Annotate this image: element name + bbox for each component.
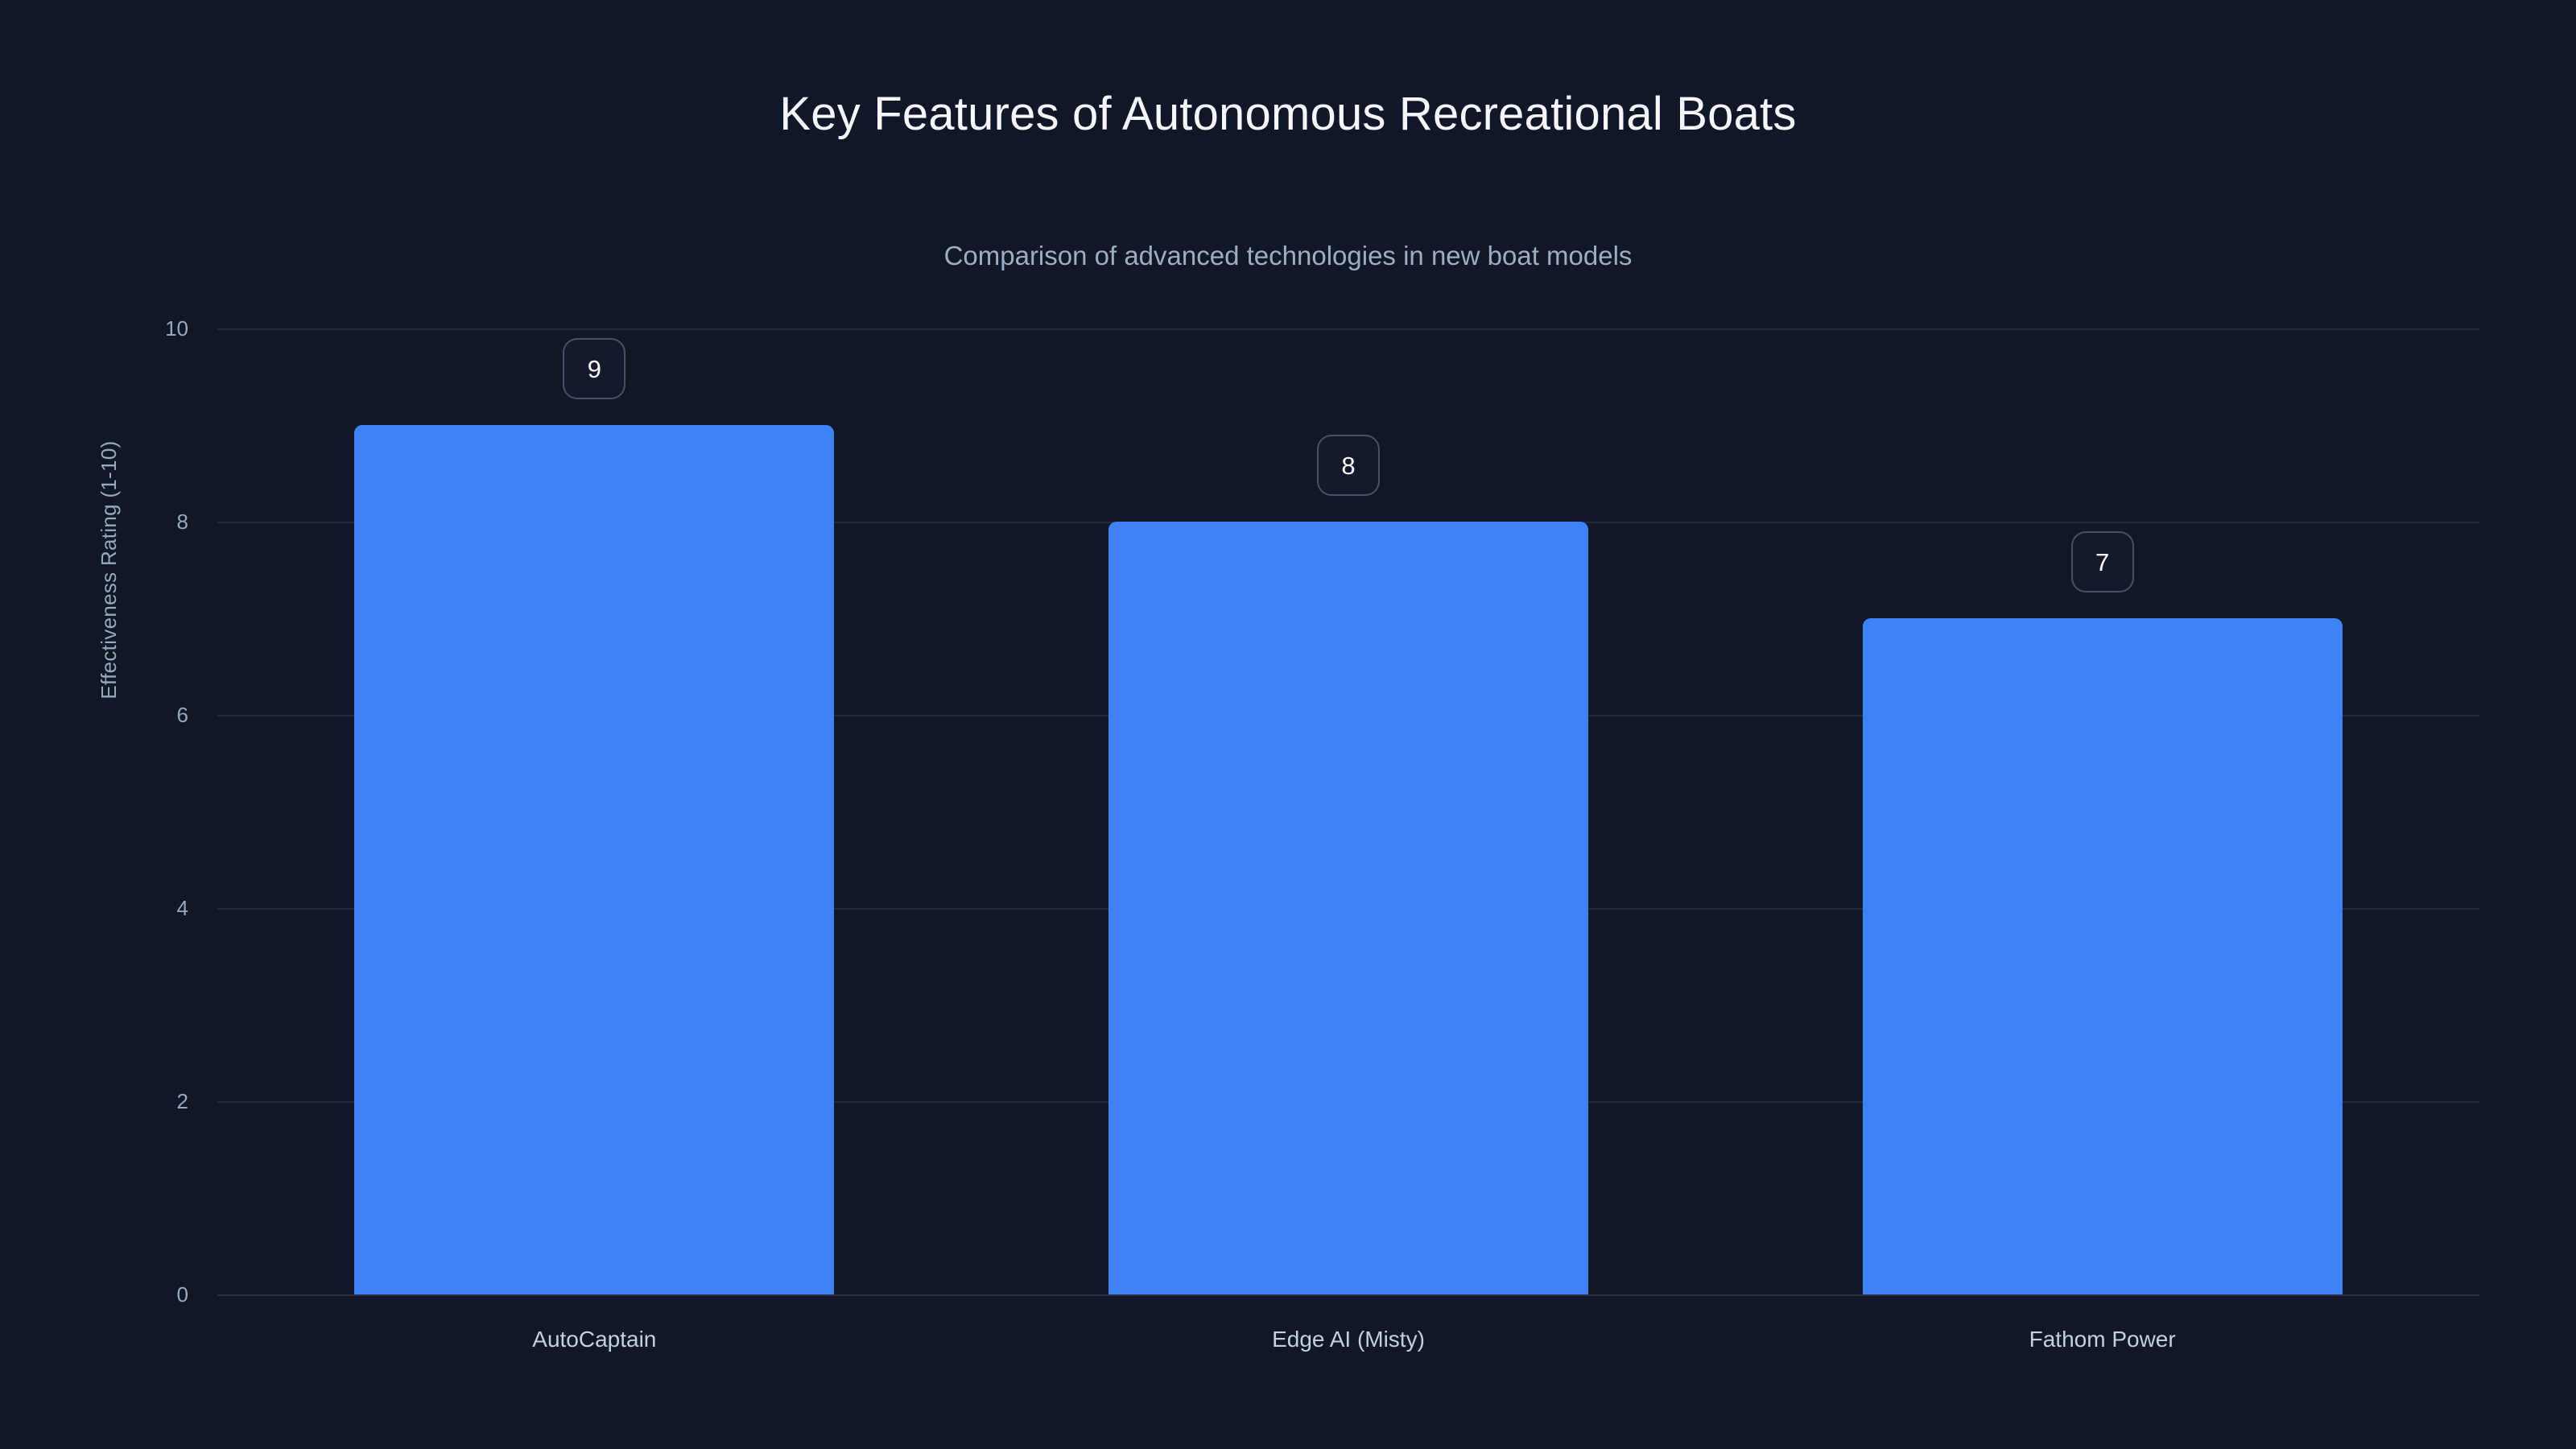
y-tick-label: 6 [177, 704, 188, 725]
x-tick-label: Edge AI (Misty) [1272, 1328, 1425, 1351]
y-tick-label: 8 [177, 511, 188, 532]
value-label-badge: 7 [2071, 531, 2134, 592]
value-label-badge: 8 [1317, 435, 1380, 496]
bar[interactable] [1108, 522, 1588, 1294]
value-label-badge: 9 [563, 338, 625, 399]
bar[interactable] [354, 425, 834, 1294]
x-tick-label: AutoCaptain [532, 1328, 656, 1351]
x-tick-label: Fathom Power [2029, 1328, 2176, 1351]
y-tick-label: 10 [165, 318, 188, 339]
chart-title: Key Features of Autonomous Recreational … [0, 89, 2576, 140]
y-tick-label: 2 [177, 1091, 188, 1112]
y-tick-label: 4 [177, 898, 188, 919]
y-axis-title: Effectiveness Rating (1-10) [97, 328, 122, 811]
bar[interactable] [1863, 618, 2343, 1294]
y-tick-label: 0 [177, 1284, 188, 1305]
gridline [217, 1294, 2479, 1296]
bar-chart-canvas: Key Features of Autonomous Recreational … [0, 0, 2576, 1449]
chart-subtitle: Comparison of advanced technologies in n… [0, 242, 2576, 270]
gridline [217, 328, 2479, 330]
